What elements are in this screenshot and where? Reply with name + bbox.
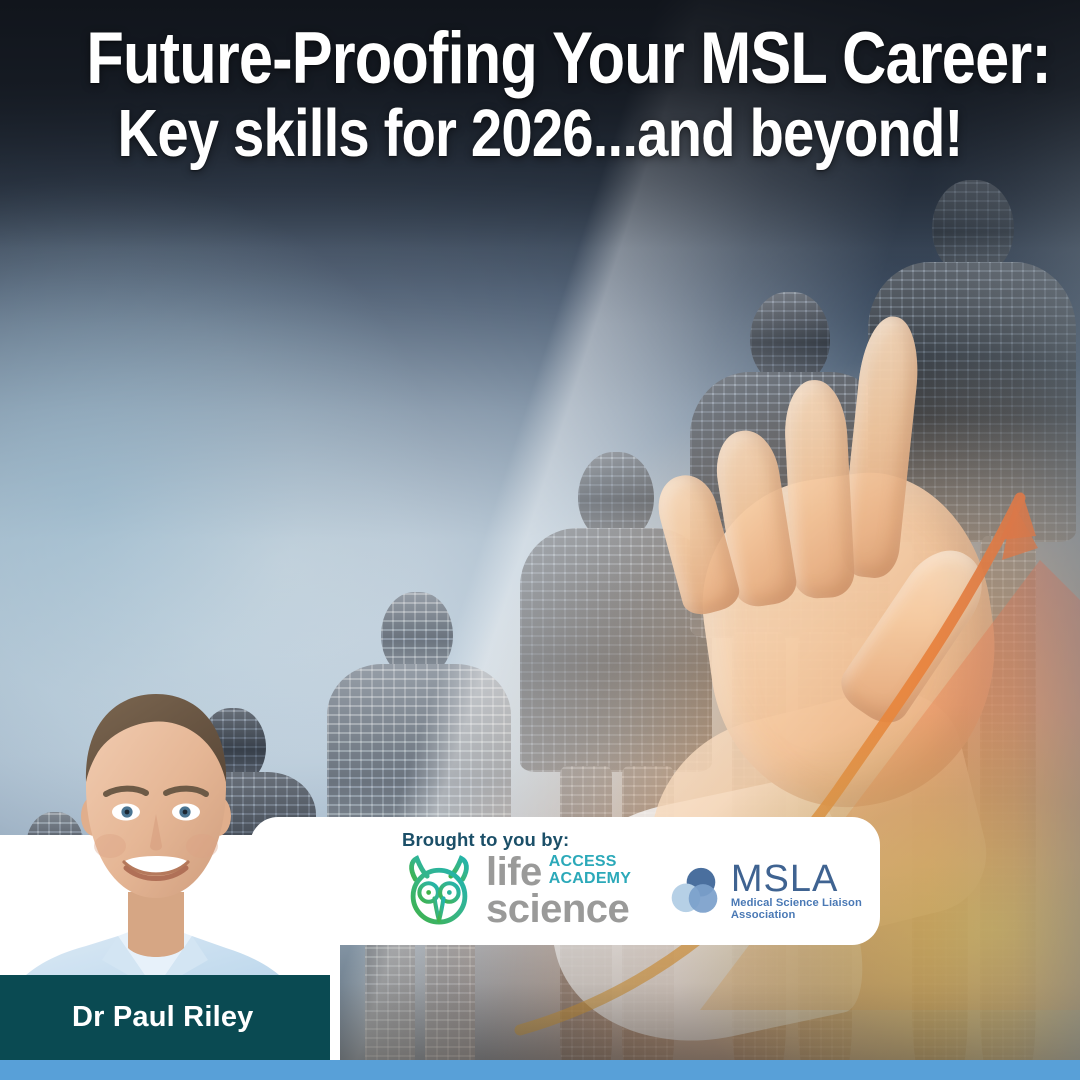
speaker-name: Dr Paul Riley [72,1001,254,1034]
msla-wordmark: MSLA [731,861,866,897]
sponsor-card: Brought to you by: [250,817,880,945]
bottom-accent-strip [0,1060,1080,1080]
webinar-promo-poster: Future-Proofing Your MSL Career: Key ski… [0,0,1080,1080]
title-line-2: Key skills for 2026...and beyond! [86,96,993,171]
title-block: Future-Proofing Your MSL Career: Key ski… [0,22,1080,171]
logo-row: life ACCESS ACADEMY science [402,854,866,928]
science-wordmark: science [486,891,631,928]
msla-tagline: Medical Science Liaison Association [731,897,866,921]
msla-logo[interactable]: MSLA Medical Science Liaison Association [671,857,866,925]
speaker-name-bar: Dr Paul Riley [0,975,330,1060]
life-science-access-academy-logo[interactable]: life ACCESS ACADEMY science [402,854,631,928]
three-circles-icon [671,857,723,925]
life-wordmark: life [486,854,542,891]
access-line: ACCESS [549,854,631,870]
title-line-1: Future-Proofing Your MSL Career: [86,22,993,96]
academy-line: ACADEMY [549,871,631,887]
sponsor-card-content: Brought to you by: [402,825,866,937]
owl-icon [402,854,476,928]
brought-to-you-by-label: Brought to you by: [402,829,866,851]
